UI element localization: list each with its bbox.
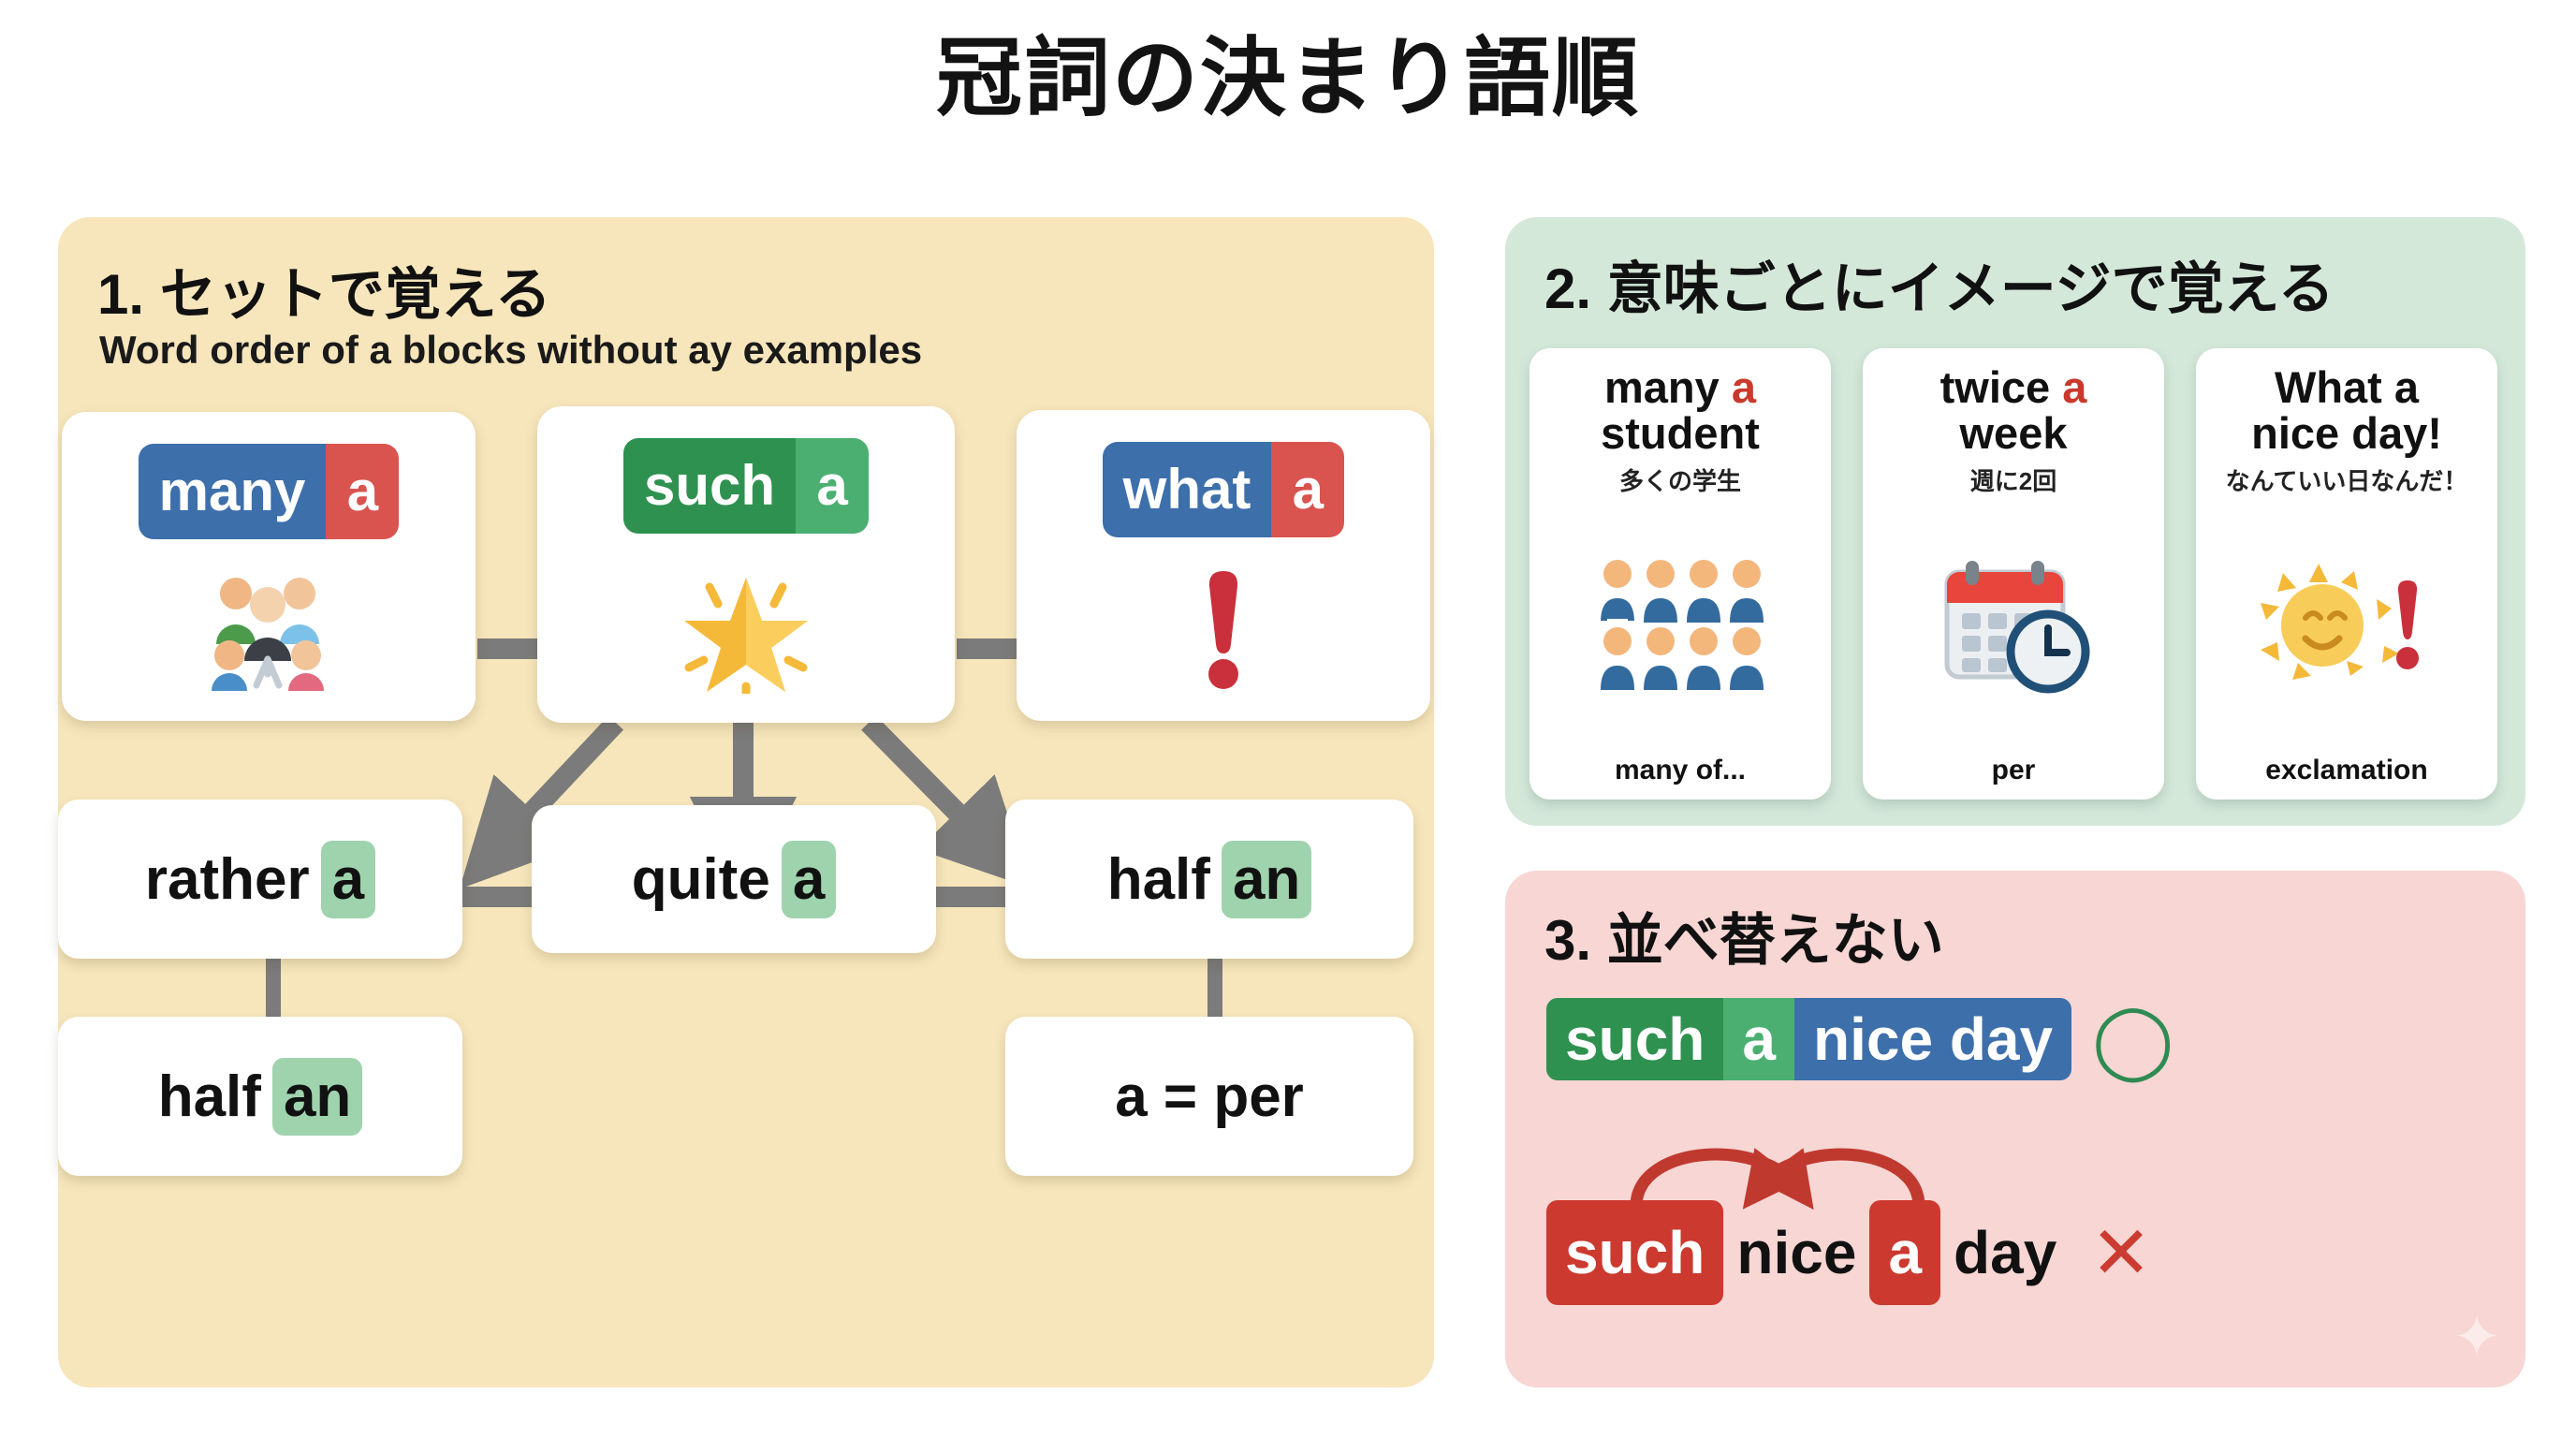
mini-card-twice-a-week[interactable]: twice a week 週に2回 xyxy=(1863,348,2164,800)
card-equation-text: a = per xyxy=(1115,1064,1304,1130)
chip-article-a: a xyxy=(796,438,869,534)
sun-smile-icon xyxy=(2253,497,2440,755)
mini-card-many-a-student[interactable]: many a student 多くの学生 xyxy=(1529,348,1831,800)
connector-half-per xyxy=(1207,957,1222,1019)
pill-nice-day: nice day xyxy=(1794,998,2071,1080)
mini-card-japanese: 週に2回 xyxy=(1970,462,2056,497)
mini-card-footer: exclamation xyxy=(2265,755,2427,800)
mini-card-japanese: なんていい日なんだ！ xyxy=(2226,462,2468,497)
card-what-a[interactable]: what a xyxy=(1017,410,1430,721)
correct-mark: ◯ xyxy=(2092,1003,2173,1076)
card-such-a[interactable]: such a xyxy=(537,406,955,723)
card-lead-text: quite xyxy=(632,846,770,913)
card-many-a[interactable]: many a xyxy=(62,412,476,721)
connector-rather-quite xyxy=(462,887,532,907)
infographic-root: 冠詞の決まり語順 1. セットで覚える Word order of a bloc… xyxy=(0,0,2576,1438)
sparkle-watermark-icon: ✦ xyxy=(2452,1302,2501,1371)
mini-title-article: a xyxy=(2062,362,2086,412)
mini-title-line2: week xyxy=(1960,408,2068,458)
people-group-svg xyxy=(198,569,339,691)
mini-card-title: many a student xyxy=(1601,365,1760,457)
card-highlight-article: a xyxy=(782,841,836,918)
pill-such-wrong: such xyxy=(1546,1200,1723,1305)
mini-card-title: twice a week xyxy=(1940,365,2087,457)
people-group-icon xyxy=(198,539,339,721)
mini-card-japanese: 多くの学生 xyxy=(1619,462,1741,497)
card-highlight-article: a xyxy=(321,841,375,918)
pill-day-wrong: day xyxy=(1940,1211,2070,1294)
chip-word-what: what xyxy=(1103,442,1272,537)
star-sparkle-svg xyxy=(676,563,816,694)
chip-article-a: a xyxy=(326,444,399,539)
chip-word-many: many xyxy=(139,444,327,539)
pill-a-wrong: a xyxy=(1869,1200,1940,1305)
mini-title-line2: nice day! xyxy=(2251,408,2442,458)
chip-row-many: many a xyxy=(139,444,400,539)
correct-example-row: such a nice day ◯ xyxy=(1546,998,2173,1080)
mini-title-main: many xyxy=(1604,362,1720,412)
exclamation-svg xyxy=(1191,564,1256,695)
mini-card-footer: many of... xyxy=(1615,755,1746,800)
panel-image-memorization: 2. 意味ごとにイメージで覚える many a student 多くの学生 xyxy=(1505,217,2525,826)
mini-title-article: a xyxy=(2394,362,2419,412)
chip-word-such: such xyxy=(623,438,796,534)
mini-title-main: twice xyxy=(1940,362,2051,412)
exclamation-icon xyxy=(1191,537,1256,721)
card-lead-text: half xyxy=(1107,846,1210,913)
card-half-an-bottom[interactable]: half an xyxy=(58,1017,462,1176)
pill-nice-wrong: nice xyxy=(1723,1211,1869,1294)
pill-a: a xyxy=(1723,998,1794,1080)
connector-quite-half xyxy=(936,887,1005,907)
calendar-clock-icon xyxy=(1932,497,2096,755)
people-rows-icon xyxy=(1591,497,1769,755)
card-highlight-article: an xyxy=(272,1058,362,1136)
calendar-clock-svg xyxy=(1932,555,2096,696)
star-sparkle-icon xyxy=(676,534,816,723)
panel-set-memorization: 1. セットで覚える Word order of a blocks withou… xyxy=(58,217,1434,1387)
card-lead-text: half xyxy=(158,1064,261,1130)
mini-card-title: What a nice day! xyxy=(2251,365,2442,457)
panel-3-heading: 3. 並べ替えない xyxy=(1544,895,1944,976)
mini-title-main: What xyxy=(2275,362,2382,412)
mini-title-article: a xyxy=(1732,362,1756,412)
card-quite-a[interactable]: quite a xyxy=(532,805,936,953)
chip-row-what: what a xyxy=(1103,442,1345,537)
pill-such: such xyxy=(1546,998,1723,1080)
card-half-an[interactable]: half an xyxy=(1005,800,1413,959)
panel-2-heading: 2. 意味ごとにイメージで覚える xyxy=(1544,243,2334,325)
mini-title-line2: student xyxy=(1601,408,1760,458)
wrong-mark: ✕ xyxy=(2090,1216,2151,1289)
card-a-equals-per[interactable]: a = per xyxy=(1005,1017,1413,1176)
chip-row-such: such a xyxy=(623,438,869,534)
sun-smile-svg xyxy=(2253,560,2440,691)
card-lead-text: rather xyxy=(145,846,310,913)
panel-no-reordering: 3. 並べ替えない such a nice day ◯ such nice a … xyxy=(1505,871,2525,1387)
wrong-example-row: such nice a day ✕ xyxy=(1546,1200,2152,1305)
people-rows-svg xyxy=(1591,555,1769,696)
card-rather-a[interactable]: rather a xyxy=(58,800,462,959)
mini-card-what-a-nice-day[interactable]: What a nice day! なんていい日なんだ！ xyxy=(2196,348,2497,800)
connector-rather-half xyxy=(266,957,281,1019)
card-highlight-article: an xyxy=(1222,841,1311,918)
mini-card-footer: per xyxy=(1992,755,2036,800)
page-title: 冠詞の決まり語順 xyxy=(0,32,2576,126)
chip-article-a: a xyxy=(1271,442,1344,537)
